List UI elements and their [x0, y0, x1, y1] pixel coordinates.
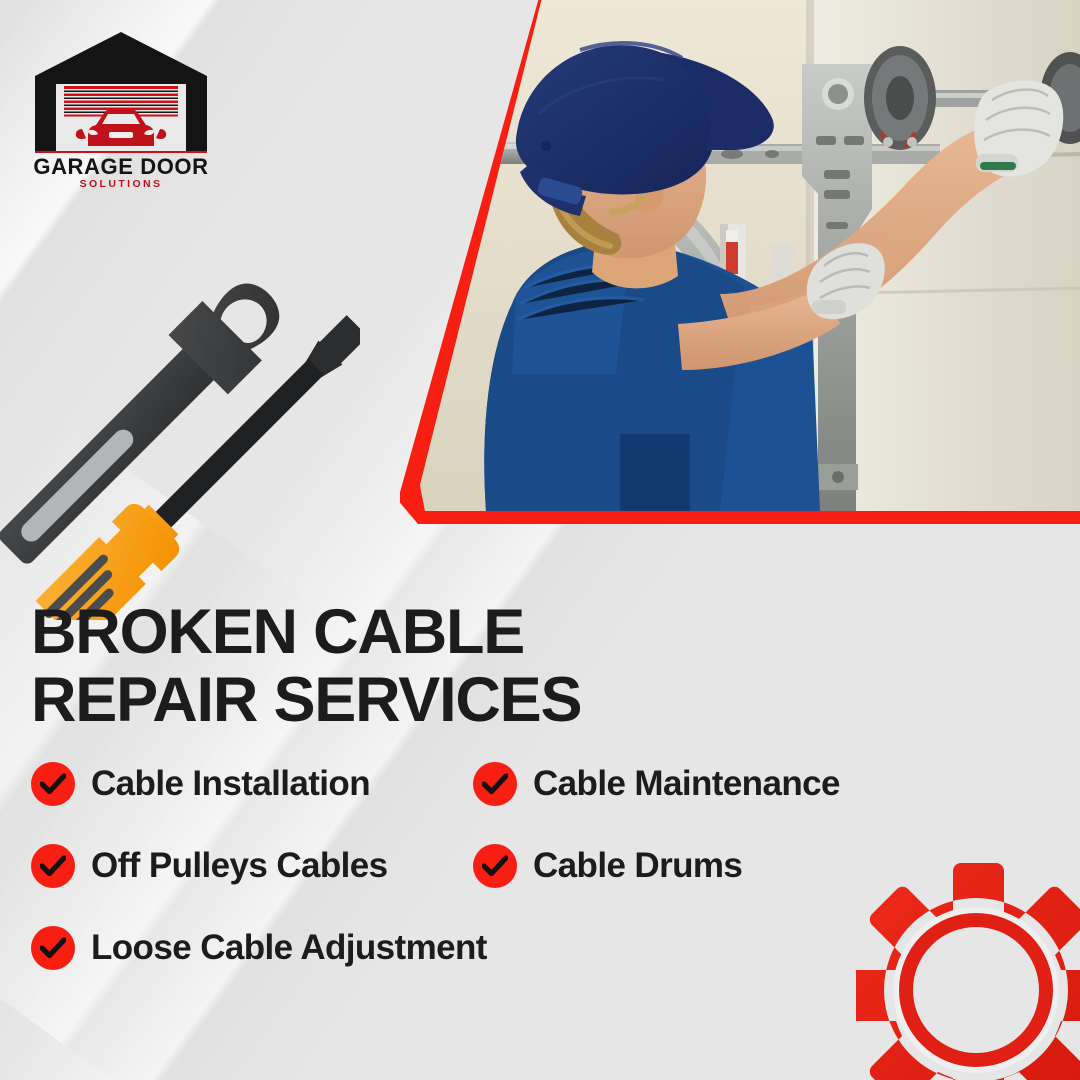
wrench-and-screwdriver-icon	[0, 180, 360, 620]
service-label: Cable Maintenance	[533, 764, 840, 804]
check-mark-icon	[31, 844, 75, 888]
check-mark-icon	[31, 762, 75, 806]
poster-canvas: GARAGE DOOR SOLUTIONS BROKEN CABLE R	[0, 0, 1080, 1080]
services-list: Cable Installation Cable Maintenance Of	[31, 762, 991, 1008]
check-glyph	[482, 855, 508, 877]
brand-logo: GARAGE DOOR SOLUTIONS	[30, 28, 212, 188]
logo-name-primary: GARAGE DOOR	[33, 154, 208, 179]
check-mark-icon	[473, 844, 517, 888]
check-glyph	[40, 855, 66, 877]
service-item-cable-drums[interactable]: Cable Drums	[473, 844, 742, 888]
services-row-2: Off Pulleys Cables Cable Drums	[31, 844, 991, 926]
service-label: Cable Drums	[533, 846, 742, 886]
garage-door-with-car-icon: GARAGE DOOR SOLUTIONS	[30, 28, 212, 188]
hero-image	[400, 0, 1080, 524]
check-glyph	[40, 937, 66, 959]
tools-illustration	[0, 180, 360, 620]
service-label: Off Pulleys Cables	[91, 846, 388, 886]
headline-line-1: BROKEN CABLE	[31, 598, 651, 666]
check-mark-icon	[473, 762, 517, 806]
logo-name-secondary: SOLUTIONS	[80, 178, 163, 188]
service-item-cable-installation[interactable]: Cable Installation	[31, 762, 370, 806]
service-label: Cable Installation	[91, 764, 370, 804]
check-glyph	[40, 773, 66, 795]
service-item-cable-maintenance[interactable]: Cable Maintenance	[473, 762, 840, 806]
headline-line-2: REPAIR SERVICES	[31, 666, 651, 734]
service-label: Loose Cable Adjustment	[91, 928, 487, 968]
page-title: BROKEN CABLE REPAIR SERVICES	[31, 598, 651, 734]
service-item-off-pulleys-cables[interactable]: Off Pulleys Cables	[31, 844, 388, 888]
service-item-loose-cable-adjustment[interactable]: Loose Cable Adjustment	[31, 926, 487, 970]
services-row-1: Cable Installation Cable Maintenance	[31, 762, 991, 844]
services-row-3: Loose Cable Adjustment	[31, 926, 991, 1008]
check-glyph	[482, 773, 508, 795]
check-mark-icon	[31, 926, 75, 970]
